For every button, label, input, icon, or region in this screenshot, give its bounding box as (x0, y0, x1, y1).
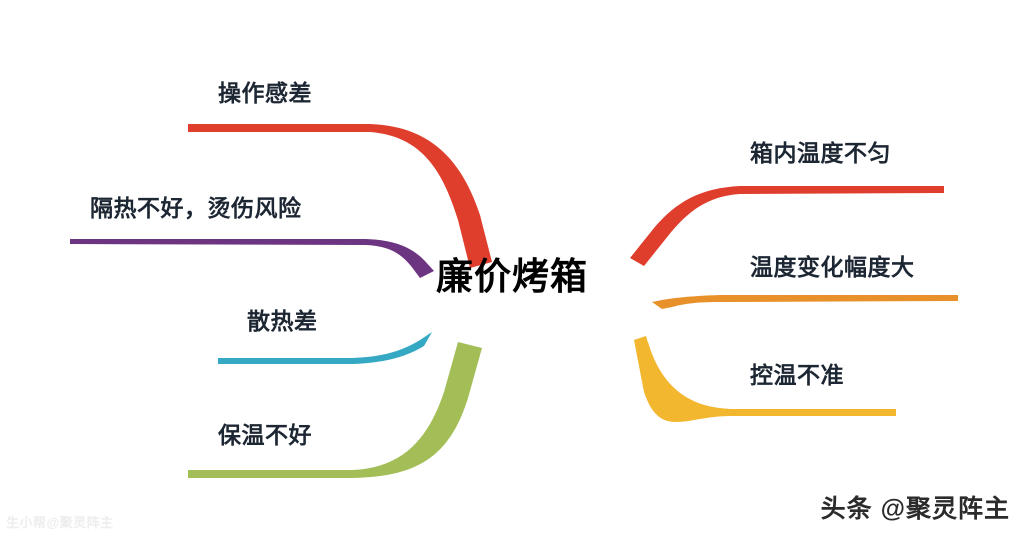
mindmap-canvas: 操作感差 隔热不好，烫伤风险 散热差 保温不好 箱内温度不匀 温度变化幅度大 控… (0, 0, 1024, 539)
node-label-heat-retention[interactable]: 保温不好 (218, 424, 312, 447)
branch-line-heat-dissipation (218, 332, 432, 364)
node-label-insulation-burn-risk[interactable]: 隔热不好，烫伤风险 (90, 197, 302, 220)
node-label-operation-feel[interactable]: 操作感差 (218, 82, 312, 105)
node-label-uneven-chamber-temp[interactable]: 箱内温度不匀 (750, 142, 891, 165)
branch-line-temp-fluctuation (652, 295, 958, 309)
node-label-temp-control-accuracy[interactable]: 控温不准 (750, 364, 844, 387)
node-label-heat-dissipation[interactable]: 散热差 (247, 310, 318, 333)
watermark-toutiao: 头条 @聚灵阵主 (821, 489, 1010, 525)
watermark-faint: 生小帮@聚灵阵主 (6, 512, 114, 531)
center-node-label[interactable]: 廉价烤箱 (0, 258, 1024, 295)
